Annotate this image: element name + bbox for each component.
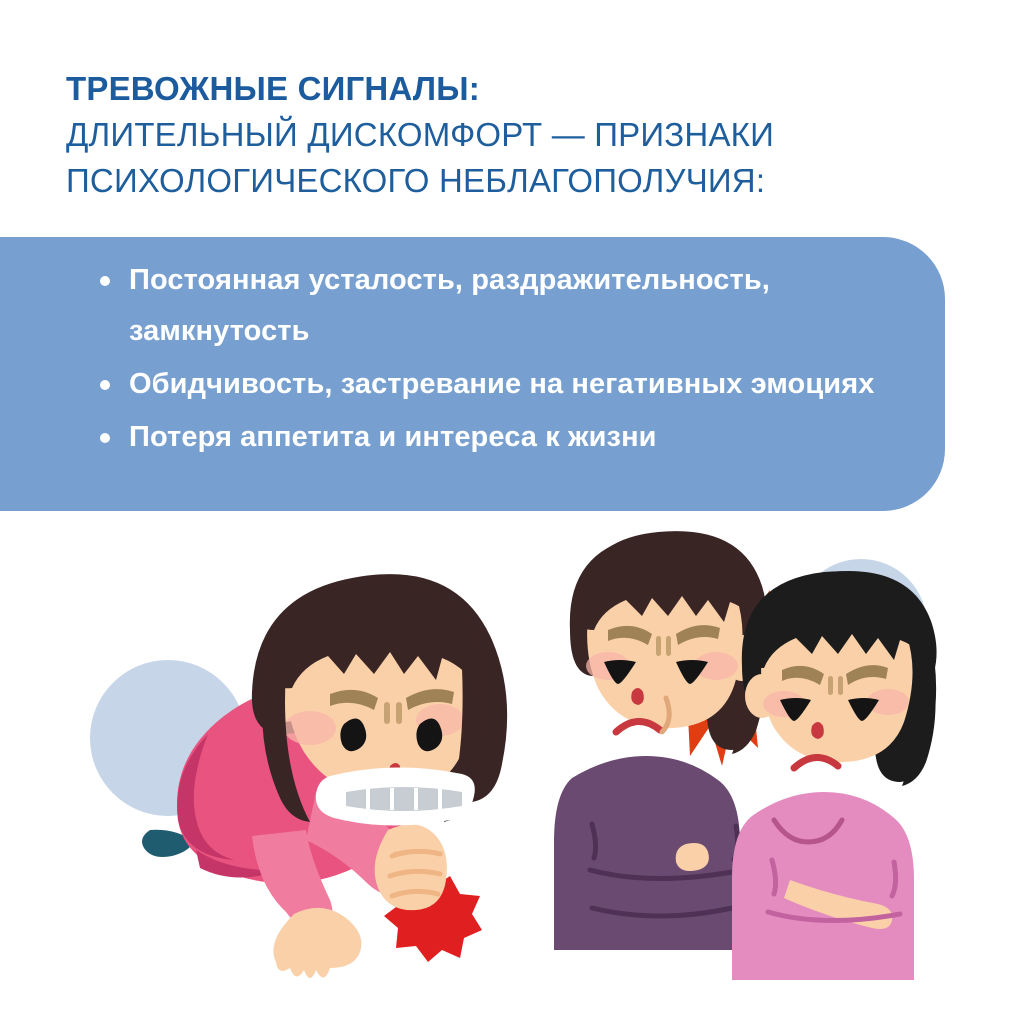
list-item-label: Потеря аппетита и интереса к жизни	[129, 421, 657, 453]
illustration-svg	[0, 520, 1024, 980]
girl-anger-wrinkle-1	[384, 702, 390, 724]
poster-root: ТРЕВОЖНЫЕ СИГНАЛЫ: ДЛИТЕЛЬНЫЙ ДИСКОМФОРТ…	[0, 0, 1024, 1024]
girl-hand-on-ground	[273, 908, 361, 978]
person-right-anger-wrinkle-1	[828, 676, 833, 695]
person-right-pink	[732, 571, 937, 980]
person-left-anger-wrinkle-1	[656, 636, 661, 656]
list-item-label: Обидчивость, застревание на негативных э…	[129, 368, 874, 400]
girl-clenched-fist-icon	[375, 824, 447, 910]
girl-anger-wrinkle-2	[396, 702, 402, 724]
bullet-dot-icon	[100, 276, 110, 286]
person-left-mouth	[616, 721, 660, 732]
person-right-mouth	[794, 757, 838, 768]
warning-signs-panel: Постоянная усталость, раздражительность,…	[0, 237, 945, 511]
title-line-1: ТРЕВОЖНЫЕ СИГНАЛЫ:	[66, 66, 966, 112]
list-item-label: Постоянная усталость, раздражительность,…	[129, 264, 770, 347]
person-left-anger-wrinkle-2	[666, 636, 671, 656]
bullet-dot-icon	[100, 433, 110, 443]
list-item: Потеря аппетита и интереса к жизни	[97, 412, 905, 463]
title-line-3: ПСИХОЛОГИЧЕСКОГО НЕБЛАГОПОЛУЧИЯ:	[66, 158, 966, 204]
title-line-2: ДЛИТЕЛЬНЫЙ ДИСКОМФОРТ — ПРИЗНАКИ	[66, 112, 966, 158]
page-title: ТРЕВОЖНЫЕ СИГНАЛЫ: ДЛИТЕЛЬНЫЙ ДИСКОМФОРТ…	[66, 66, 966, 204]
illustration-area	[0, 520, 1024, 980]
list-item: Постоянная усталость, раздражительность,…	[97, 255, 905, 357]
list-item: Обидчивость, застревание на негативных э…	[97, 359, 905, 410]
warning-signs-list: Постоянная усталость, раздражительность,…	[97, 255, 905, 465]
person-left-hand	[676, 843, 709, 871]
girl-blush-left	[284, 711, 336, 745]
girl-gritted-teeth-mouth	[316, 767, 475, 825]
angry-girl-crawling-figure	[142, 574, 507, 978]
bullet-dot-icon	[100, 380, 110, 390]
person-right-anger-wrinkle-2	[838, 676, 843, 695]
two-people-conflict-figure	[554, 531, 937, 980]
